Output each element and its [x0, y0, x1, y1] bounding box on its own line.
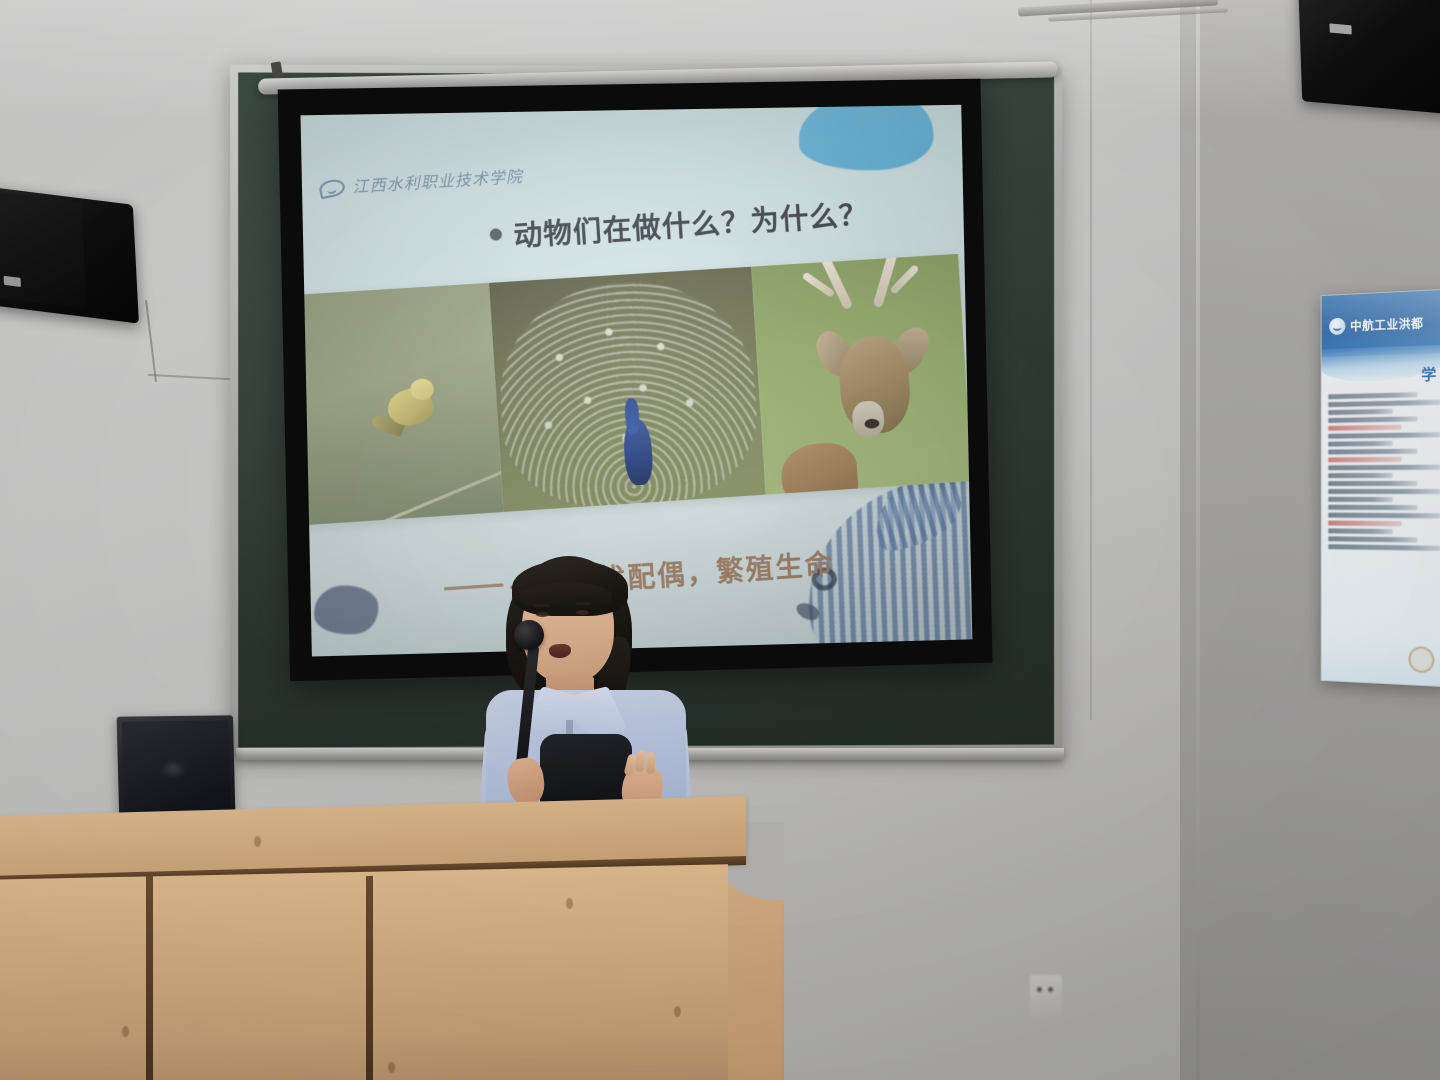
poster-text-line [1328, 489, 1440, 494]
presenter-eyebrow-left [534, 604, 550, 607]
classroom-scene: 爱护绿色 江西水利职业技术学院 [0, 0, 1440, 1080]
poster-text-line [1328, 400, 1440, 407]
poster-header-title: 中航工业洪都 [1350, 314, 1423, 334]
poster-section-heading: 学 [1421, 363, 1436, 385]
deer-antler-right-shape [872, 254, 898, 309]
poster-text-line [1328, 465, 1440, 471]
deer-antler-left-shape [819, 254, 853, 311]
wall-poster: 中航工业洪都 学 [1321, 289, 1440, 687]
poster-text-line [1328, 441, 1392, 447]
slide-title-row: 动物们在做什么？为什么？ [489, 191, 870, 256]
wood-knot [388, 1062, 395, 1073]
poster-text-line [1328, 473, 1392, 478]
blue-blob-icon [797, 105, 934, 173]
laptop-lid [117, 715, 236, 816]
poster-text-line-highlight [1328, 521, 1401, 527]
wooden-podium [0, 806, 786, 1080]
laptop-screen-glint [160, 760, 186, 779]
poster-text-line [1328, 481, 1417, 486]
poster-text-line [1328, 536, 1417, 542]
poster-footer [1322, 635, 1440, 687]
presenter-finger [646, 752, 656, 774]
branch-shape [300, 454, 503, 525]
poster-body-text [1328, 392, 1440, 634]
poster-text-line [1328, 409, 1392, 415]
wall-speaker-left [0, 186, 139, 323]
poster-text-line [1328, 513, 1440, 519]
bird-head-shape [410, 378, 435, 401]
peacock-photo [489, 267, 765, 512]
wood-knot [566, 898, 573, 909]
poster-text-line-highlight [1328, 425, 1401, 431]
institution-name: 江西水利职业技术学院 [352, 165, 524, 198]
speaker-badge [1329, 23, 1351, 34]
avic-logo-icon [1329, 317, 1345, 334]
microphone-icon[interactable] [514, 620, 544, 650]
institution-mark-icon [318, 177, 347, 199]
slide-institution-logo: 江西水利职业技术学院 [319, 165, 524, 200]
poster-text-line [1328, 544, 1440, 551]
slide-photo-strip [300, 254, 971, 525]
presenter-eye-right [576, 610, 589, 615]
podium-front-panel [0, 864, 728, 1080]
poster-text-line [1328, 497, 1392, 502]
wood-knot [122, 1026, 129, 1037]
laptop-screen [122, 720, 231, 812]
podium-panel-divider [366, 876, 373, 1080]
poster-text-line [1328, 416, 1417, 423]
poster-text-line [1328, 528, 1392, 534]
wall-corner-edge [1196, 0, 1200, 1080]
poster-text-line [1328, 392, 1417, 399]
bullet-point-icon [490, 228, 502, 240]
presenter-eyebrow-right [575, 602, 591, 605]
podium-panel-divider [146, 876, 153, 1080]
wood-knot [674, 1006, 681, 1017]
speaker-grille-icon [0, 191, 87, 309]
wall-speaker-right [1298, 0, 1440, 115]
poster-text-line-highlight [1328, 457, 1401, 463]
wall-power-outlet[interactable] [1030, 975, 1062, 1021]
wood-knot [254, 836, 261, 847]
outlet-hole-icon [1048, 987, 1053, 992]
deer-photo [751, 254, 972, 495]
student-presenter [470, 548, 700, 838]
presenter-laptop[interactable] [117, 715, 236, 816]
poster-seal-icon [1408, 646, 1434, 673]
slide-title: 动物们在做什么？为什么？ [512, 191, 869, 254]
poster-text-line [1328, 432, 1440, 439]
deer-antler-right-branch-shape [890, 264, 920, 295]
wall-seam [1090, 0, 1092, 720]
presenter-eye-left [536, 612, 549, 617]
blue-blob-small-icon [313, 584, 379, 636]
poster-text-line [1328, 449, 1417, 455]
poster-text-line [1328, 505, 1417, 510]
bird-photo [300, 283, 503, 526]
deer-body-shape [779, 441, 859, 495]
outlet-hole-icon [1037, 987, 1042, 992]
